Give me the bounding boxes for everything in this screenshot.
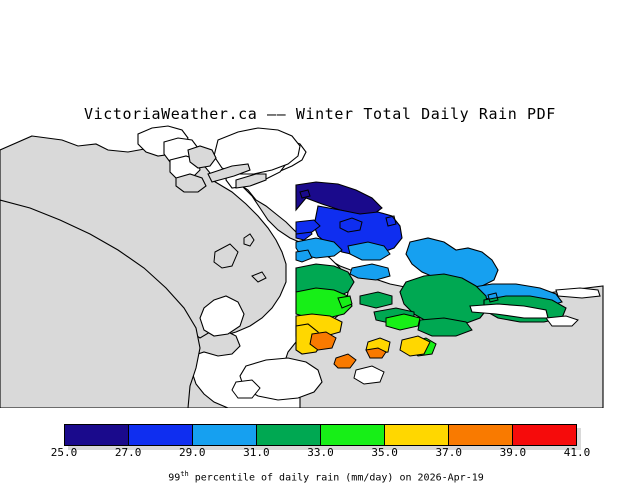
colorbar-tick-25.0: 25.0 <box>51 446 78 459</box>
weather-map <box>0 0 640 408</box>
colorbar-tick-39.0: 39.0 <box>500 446 527 459</box>
colorbar-tick-29.0: 29.0 <box>179 446 206 459</box>
colorbar-tick-41.0: 41.0 <box>564 446 591 459</box>
colorbar-bin-25-27 <box>65 425 129 445</box>
colorbar-tick-37.0: 37.0 <box>436 446 463 459</box>
colorbar-tick-31.0: 31.0 <box>243 446 270 459</box>
caption-superscript: th <box>180 470 188 478</box>
colorbar-tick-35.0: 35.0 <box>371 446 398 459</box>
colorbar-tick-labels: 25.027.029.031.033.035.037.039.041.0 <box>0 446 640 460</box>
colorbar-caption: 99th percentile of daily rain (mm/day) o… <box>0 459 640 483</box>
colorbar-bin-27-29 <box>129 425 193 445</box>
chart-title: VictoriaWeather.ca —— Winter Total Daily… <box>0 105 640 123</box>
colorbar <box>64 424 577 446</box>
colorbar-bin-35-37 <box>385 425 449 445</box>
colorbar-bin-39-41 <box>513 425 576 445</box>
caption-prefix: 99 <box>168 472 180 483</box>
colorbar-bin-33-35 <box>321 425 385 445</box>
colorbar-tick-33.0: 33.0 <box>307 446 334 459</box>
colorbar-strip <box>64 424 577 446</box>
colorbar-bin-31-33 <box>257 425 321 445</box>
caption-rest: percentile of daily rain (mm/day) on 202… <box>189 472 484 483</box>
colorbar-tick-27.0: 27.0 <box>115 446 142 459</box>
colorbar-bin-29-31 <box>193 425 257 445</box>
map-panel <box>0 0 640 408</box>
colorbar-bin-37-39 <box>449 425 513 445</box>
coastline-east-strand-1 <box>556 288 600 298</box>
